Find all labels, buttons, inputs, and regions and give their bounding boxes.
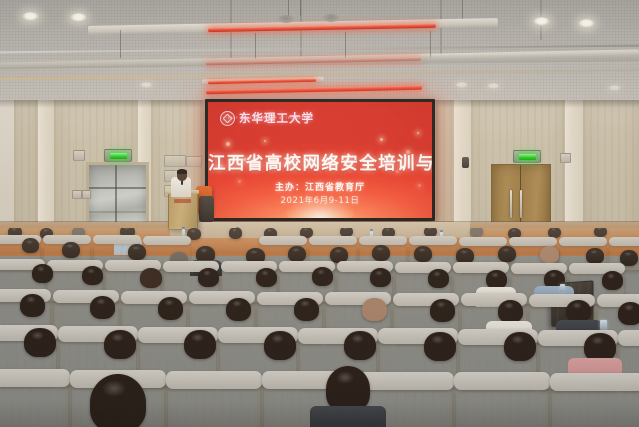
seat-headrest xyxy=(509,237,557,246)
audience-head xyxy=(32,264,53,283)
audience-head xyxy=(22,238,39,253)
ceiling-spotlight xyxy=(140,82,153,88)
door-handle[interactable] xyxy=(510,190,512,218)
seat-headrest xyxy=(559,237,607,246)
audience-head xyxy=(104,330,136,359)
audience-head xyxy=(140,268,162,288)
wall-plaque xyxy=(186,156,202,167)
audience-torso xyxy=(310,406,386,427)
bokeh-particle xyxy=(264,140,266,142)
led-display: 东华理工大学 EAST CHINA UNIVERSITY OF TECHNOLO… xyxy=(208,102,432,218)
ceiling-spotlight xyxy=(533,17,550,26)
audience-head xyxy=(504,332,536,361)
door-handle[interactable] xyxy=(520,190,522,218)
exit-sign-icon xyxy=(104,149,132,162)
event-title: 江西省高校网络安全培训与研讨会 xyxy=(208,150,432,175)
audience-head xyxy=(20,294,45,317)
ceiling-spotlight-off xyxy=(323,14,339,22)
seat xyxy=(0,384,68,427)
speaker-hair xyxy=(177,169,187,174)
ceiling-spotlight xyxy=(70,13,87,22)
audience-head xyxy=(198,268,219,287)
seat xyxy=(552,388,639,427)
audience-head xyxy=(264,331,296,360)
led-screen-frame: 东华理工大学 EAST CHINA UNIVERSITY OF TECHNOLO… xyxy=(205,99,435,221)
ceiling-spotlight-off xyxy=(278,15,294,23)
audience-head xyxy=(184,330,216,359)
wood-panel xyxy=(436,100,454,240)
seat-headrest xyxy=(454,372,550,390)
bokeh-particle xyxy=(226,142,230,146)
ceiling-spotlight xyxy=(455,82,468,88)
wall-outlet xyxy=(82,190,91,199)
light-rod xyxy=(120,30,121,58)
seat-headrest xyxy=(259,236,307,245)
audience-head xyxy=(602,271,623,290)
light-rod xyxy=(300,0,301,16)
audience-head xyxy=(424,332,456,361)
audience-head xyxy=(594,228,607,237)
wall-sensor xyxy=(560,153,571,163)
audience-head xyxy=(428,269,449,288)
smartphone xyxy=(600,320,607,330)
audience-head xyxy=(362,298,387,321)
ceiling-seam xyxy=(440,0,442,60)
audience-head xyxy=(370,268,391,287)
door-mullion xyxy=(89,187,146,189)
audience-head xyxy=(288,246,306,262)
audience-head-foreground xyxy=(90,374,146,427)
seat-headrest xyxy=(143,236,191,245)
seat-headrest xyxy=(359,236,407,245)
light-rod xyxy=(255,33,256,59)
audience-head xyxy=(294,298,319,321)
audience-head xyxy=(470,228,483,237)
audience-head xyxy=(24,328,56,357)
podium xyxy=(168,192,198,230)
seat-headrest xyxy=(309,236,357,245)
stage-chair-dark xyxy=(199,196,214,222)
audience-head xyxy=(618,302,639,325)
audience-head xyxy=(128,244,146,260)
door-mullion xyxy=(89,211,146,213)
wall-pillar xyxy=(38,100,54,240)
seat-headrest xyxy=(409,236,457,245)
auditorium-photo: 东华理工大学 EAST CHINA UNIVERSITY OF TECHNOLO… xyxy=(0,0,639,427)
wall-panel xyxy=(0,100,14,240)
seat-headrest xyxy=(550,373,639,391)
screen-bottom-glow xyxy=(284,198,356,218)
audience-head xyxy=(312,267,333,286)
light-rod xyxy=(345,32,346,58)
audience-head xyxy=(82,266,103,285)
seat-headrest xyxy=(93,235,141,244)
ceiling-spotlight xyxy=(487,83,500,89)
wood-panel xyxy=(14,100,38,240)
wall-pillar xyxy=(565,100,583,240)
ceiling-spotlight xyxy=(608,85,621,91)
seat-headrest xyxy=(0,369,70,387)
audience-head xyxy=(586,248,604,264)
audience-head xyxy=(414,246,432,262)
wall-speaker xyxy=(462,157,469,168)
audience-head xyxy=(498,300,523,323)
light-rod xyxy=(462,0,463,20)
seat xyxy=(456,387,548,427)
seat-headrest xyxy=(609,237,639,246)
light-rod xyxy=(430,31,431,58)
wall-outlet xyxy=(72,190,82,199)
seat-headrest xyxy=(618,330,639,346)
university-name-en: EAST CHINA UNIVERSITY OF TECHNOLOGY xyxy=(228,116,313,120)
wall-switch-panel[interactable] xyxy=(73,150,85,161)
wood-panel xyxy=(583,100,639,240)
seat-headrest xyxy=(166,371,262,389)
ceiling-spotlight xyxy=(22,12,39,21)
audience-head xyxy=(158,297,183,320)
wall-pillar xyxy=(454,100,471,240)
seat-headrest xyxy=(358,372,454,390)
bokeh-particle xyxy=(380,138,383,141)
seat xyxy=(168,386,260,427)
podium-nameplate xyxy=(174,199,191,203)
ceiling-spotlight xyxy=(578,19,595,28)
bokeh-particle xyxy=(417,132,419,134)
ceiling xyxy=(0,0,639,104)
audience-head xyxy=(62,242,80,258)
audience-head xyxy=(430,299,455,322)
audience-seating xyxy=(0,228,639,427)
audience-head xyxy=(344,331,376,360)
seat-headrest xyxy=(459,237,507,246)
wall-plaque xyxy=(164,155,186,167)
audience-head xyxy=(540,246,559,263)
smartphone xyxy=(560,284,565,292)
audience-head xyxy=(256,268,277,287)
audience-head xyxy=(372,245,390,261)
audience-head xyxy=(226,298,251,321)
audience-head xyxy=(90,296,115,319)
event-organizer: 主办：江西省教育厅 xyxy=(208,180,432,193)
audience-head xyxy=(498,246,516,262)
exit-sign-icon xyxy=(513,150,541,163)
audience-head xyxy=(229,228,242,239)
